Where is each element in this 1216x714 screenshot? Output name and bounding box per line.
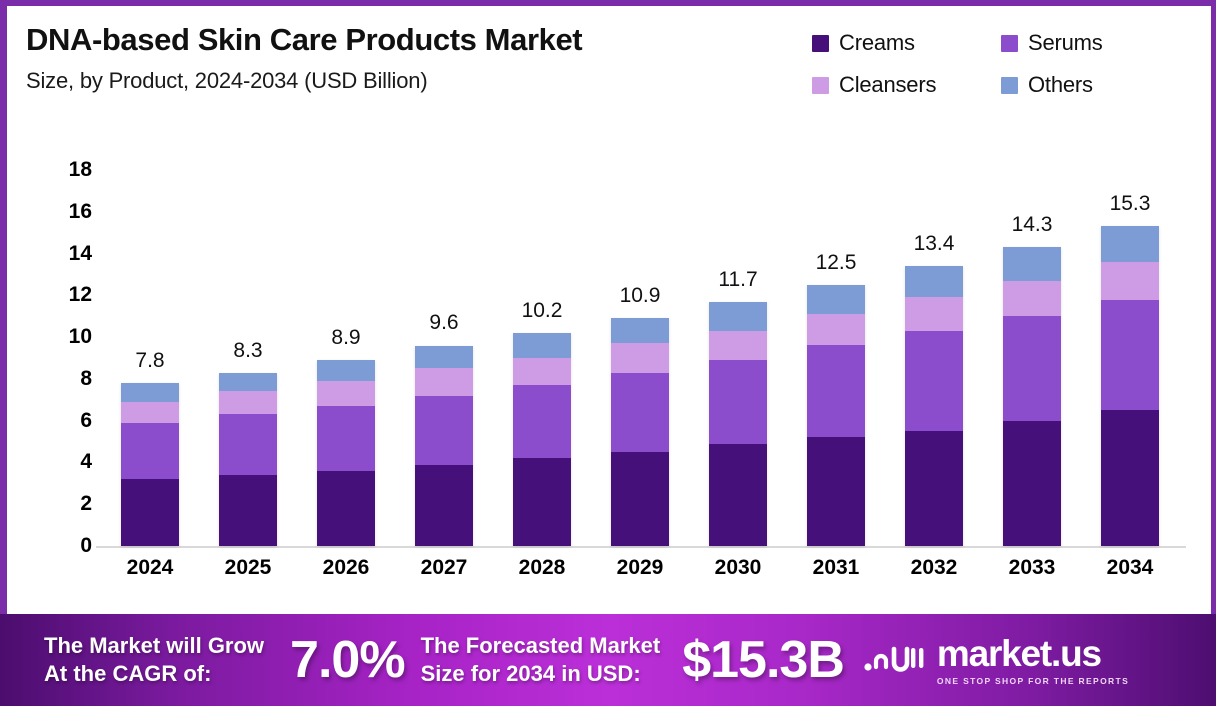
y-axis-tick: 12 (69, 283, 92, 307)
bar-segment-others[interactable] (415, 346, 473, 369)
y-axis-tick: 18 (69, 158, 92, 182)
bar-total-label: 14.3 (1012, 213, 1053, 237)
forecast-caption-line2: Size for 2034 in USD: (421, 661, 641, 686)
chart-plot-area: 024681012141618 7.88.38.99.610.210.911.7… (0, 0, 1216, 614)
bar-segment-creams[interactable] (121, 479, 179, 546)
bar-stack[interactable] (415, 346, 473, 546)
bar-stack[interactable] (905, 266, 963, 546)
bar-segment-others[interactable] (121, 383, 179, 402)
bar-segment-creams[interactable] (1003, 421, 1061, 546)
x-axis-label: 2028 (497, 556, 587, 580)
x-axis-label: 2031 (791, 556, 881, 580)
bar-segment-cleansers[interactable] (709, 331, 767, 360)
y-axis: 024681012141618 (40, 170, 92, 555)
bar-segment-serums[interactable] (1101, 300, 1159, 411)
bar-segment-cleansers[interactable] (219, 391, 277, 414)
bar-group[interactable]: 9.6 (415, 170, 473, 546)
bar-segment-serums[interactable] (415, 396, 473, 465)
bar-segment-creams[interactable] (905, 431, 963, 546)
x-axis-label: 2025 (203, 556, 293, 580)
bar-total-label: 10.9 (620, 284, 661, 308)
bar-group[interactable]: 11.7 (709, 170, 767, 546)
cagr-value: 7.0% (290, 630, 405, 690)
bar-stack[interactable] (709, 302, 767, 546)
infographic-root: DNA-based Skin Care Products Market Size… (0, 0, 1216, 714)
bar-segment-cleansers[interactable] (905, 297, 963, 330)
bar-stack[interactable] (513, 333, 571, 546)
bar-stack[interactable] (1101, 226, 1159, 546)
bar-segment-creams[interactable] (219, 475, 277, 546)
bar-group[interactable]: 14.3 (1003, 170, 1061, 546)
bar-segment-others[interactable] (1003, 247, 1061, 280)
bar-stack[interactable] (219, 373, 277, 546)
bar-segment-serums[interactable] (611, 373, 669, 452)
bar-segment-serums[interactable] (1003, 316, 1061, 420)
bar-segment-creams[interactable] (1101, 410, 1159, 546)
bar-stack[interactable] (807, 285, 865, 546)
bar-segment-serums[interactable] (513, 385, 571, 458)
bar-group[interactable]: 7.8 (121, 170, 179, 546)
bar-total-label: 11.7 (718, 268, 757, 292)
bar-segment-cleansers[interactable] (807, 314, 865, 345)
logo-tagline: ONE STOP SHOP FOR THE REPORTS (937, 676, 1129, 686)
bar-segment-others[interactable] (905, 266, 963, 297)
bar-total-label: 13.4 (914, 232, 955, 256)
bar-segment-serums[interactable] (807, 345, 865, 437)
x-axis-labels: 2024202520262027202820292030203120322033… (96, 556, 1186, 592)
x-axis-label: 2034 (1085, 556, 1175, 580)
x-axis-label: 2026 (301, 556, 391, 580)
bar-total-label: 9.6 (429, 311, 458, 335)
y-axis-tick: 10 (69, 325, 92, 349)
bar-segment-serums[interactable] (317, 406, 375, 471)
bar-segment-creams[interactable] (513, 458, 571, 546)
x-axis-baseline (96, 546, 1186, 548)
bar-group[interactable]: 13.4 (905, 170, 963, 546)
bar-stack[interactable] (1003, 247, 1061, 546)
cagr-caption-line2: At the CAGR of: (44, 661, 211, 686)
x-axis-label: 2029 (595, 556, 685, 580)
x-axis-label: 2030 (693, 556, 783, 580)
bar-segment-serums[interactable] (219, 414, 277, 475)
bar-group[interactable]: 10.9 (611, 170, 669, 546)
bars-container: 7.88.38.99.610.210.911.712.513.414.315.3 (96, 170, 1186, 546)
y-axis-tick: 0 (80, 534, 92, 558)
bar-segment-cleansers[interactable] (1101, 262, 1159, 300)
cagr-caption-line1: The Market will Grow (44, 633, 264, 658)
bar-segment-serums[interactable] (121, 423, 179, 479)
bar-segment-others[interactable] (513, 333, 571, 358)
y-axis-tick: 14 (69, 242, 92, 266)
bar-segment-creams[interactable] (709, 444, 767, 546)
bar-segment-cleansers[interactable] (1003, 281, 1061, 317)
market-us-logo-text: market.us ONE STOP SHOP FOR THE REPORTS (937, 635, 1129, 686)
x-axis-label: 2033 (987, 556, 1077, 580)
bar-segment-serums[interactable] (709, 360, 767, 444)
forecast-caption: The Forecasted Market Size for 2034 in U… (421, 632, 661, 688)
bar-group[interactable]: 15.3 (1101, 170, 1159, 546)
bar-segment-creams[interactable] (611, 452, 669, 546)
bar-segment-others[interactable] (317, 360, 375, 381)
bar-segment-others[interactable] (219, 373, 277, 392)
forecast-value: $15.3B (682, 630, 844, 690)
y-axis-tick: 2 (80, 492, 92, 516)
bar-total-label: 12.5 (816, 251, 857, 275)
x-axis-label: 2032 (889, 556, 979, 580)
market-us-logo-icon (864, 641, 926, 680)
y-axis-tick: 6 (80, 409, 92, 433)
x-axis-label: 2027 (399, 556, 489, 580)
bar-group[interactable]: 8.9 (317, 170, 375, 546)
forecast-caption-line1: The Forecasted Market (421, 633, 661, 658)
bar-segment-others[interactable] (709, 302, 767, 331)
bar-segment-serums[interactable] (905, 331, 963, 431)
bar-segment-creams[interactable] (807, 437, 865, 546)
y-axis-tick: 8 (80, 367, 92, 391)
bar-total-label: 10.2 (522, 299, 563, 323)
bar-stack[interactable] (121, 383, 179, 546)
bar-segment-cleansers[interactable] (415, 368, 473, 395)
summary-banner: The Market will Grow At the CAGR of: 7.0… (0, 614, 1216, 706)
bar-segment-creams[interactable] (317, 471, 375, 546)
y-axis-tick: 16 (69, 200, 92, 224)
bar-segment-others[interactable] (611, 318, 669, 343)
bar-segment-creams[interactable] (415, 465, 473, 546)
logo-wordmark: market.us (937, 635, 1129, 672)
x-axis-label: 2024 (105, 556, 195, 580)
bar-total-label: 7.8 (135, 349, 164, 373)
bar-stack[interactable] (611, 318, 669, 546)
bar-segment-others[interactable] (807, 285, 865, 314)
bar-segment-cleansers[interactable] (317, 381, 375, 406)
bar-segment-cleansers[interactable] (611, 343, 669, 372)
bar-segment-cleansers[interactable] (121, 402, 179, 423)
bar-total-label: 8.3 (233, 339, 262, 363)
bar-segment-others[interactable] (1101, 226, 1159, 262)
bar-stack[interactable] (317, 360, 375, 546)
bar-group[interactable]: 10.2 (513, 170, 571, 546)
bar-segment-cleansers[interactable] (513, 358, 571, 385)
bar-group[interactable]: 8.3 (219, 170, 277, 546)
cagr-caption: The Market will Grow At the CAGR of: (44, 632, 264, 688)
bar-total-label: 8.9 (331, 326, 360, 350)
market-us-logo[interactable]: market.us ONE STOP SHOP FOR THE REPORTS (864, 635, 1129, 686)
bar-total-label: 15.3 (1110, 192, 1151, 216)
y-axis-tick: 4 (80, 450, 92, 474)
bar-group[interactable]: 12.5 (807, 170, 865, 546)
